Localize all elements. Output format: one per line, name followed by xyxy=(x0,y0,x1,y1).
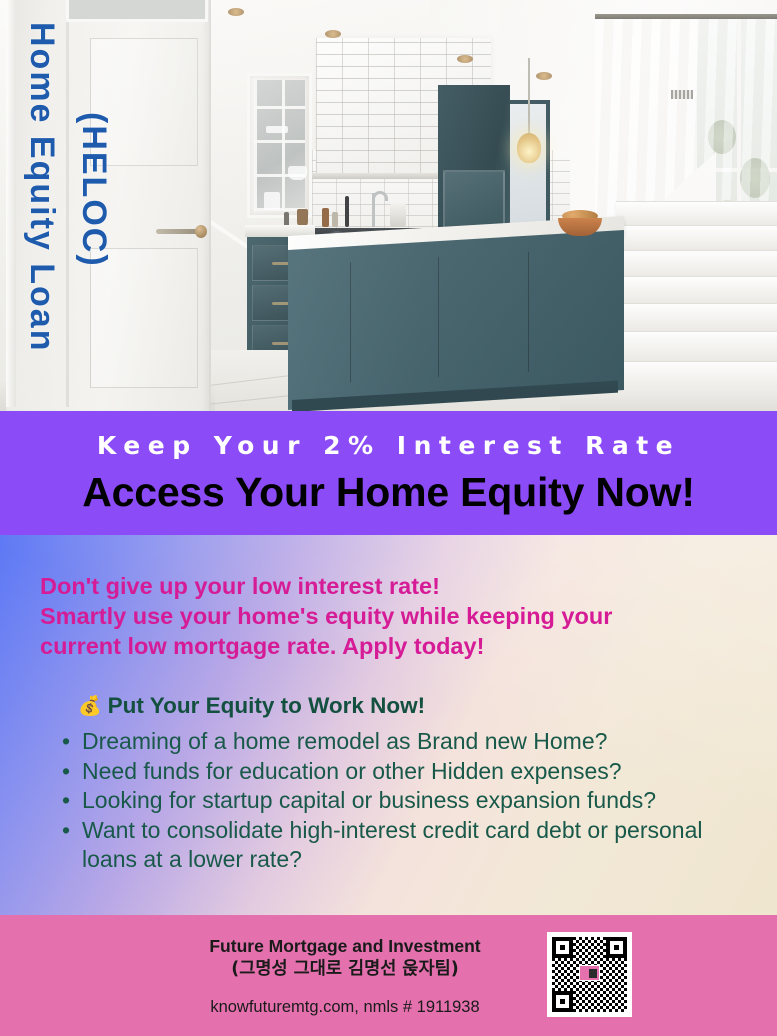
pendant-light-bulb xyxy=(517,133,541,163)
hero-vertical-title: Home Equity Loan xyxy=(22,22,61,352)
hero-vertical-subtitle: (HELOC) xyxy=(74,112,113,268)
money-bag-icon: 💰 xyxy=(78,697,102,716)
cabinet-glass-panes xyxy=(254,80,305,211)
cabinet-dish xyxy=(288,166,307,180)
lede-line: Don't give up your low interest rate! xyxy=(40,571,720,601)
glass-front-upper-cabinet xyxy=(247,73,312,218)
heloc-flyer: Home Equity Loan (HELOC) Keep Your 2% In… xyxy=(0,0,777,1036)
counter-utensil xyxy=(345,196,349,227)
door-panel xyxy=(90,248,198,388)
qr-code-matrix xyxy=(552,937,627,1012)
recessed-ceiling-light xyxy=(457,55,473,63)
island-panel-seam xyxy=(350,262,351,382)
door-rail xyxy=(66,0,69,407)
benefit-list: Dreaming of a home remodel as Brand new … xyxy=(58,727,758,875)
door-knob xyxy=(195,225,207,238)
cta-heading-label: Put Your Equity to Work Now! xyxy=(108,695,426,718)
list-item: Dreaming of a home remodel as Brand new … xyxy=(58,727,758,757)
lede-line: current low mortgage rate. Apply today! xyxy=(40,631,720,661)
cta-heading: 💰 Put Your Equity to Work Now! xyxy=(78,695,425,718)
cabinet-dish xyxy=(266,126,288,133)
qr-code[interactable] xyxy=(547,932,632,1017)
list-item: Looking for startup capital or business … xyxy=(58,786,758,816)
qr-finder-top-right xyxy=(606,937,627,958)
counter-bottle xyxy=(322,208,329,227)
lede-paragraph: Don't give up your low interest rate! Sm… xyxy=(40,571,720,661)
qr-finder-bottom-left xyxy=(552,991,573,1012)
door-transom-window xyxy=(66,0,208,22)
list-item: Want to consolidate high-interest credit… xyxy=(58,816,758,875)
hero-kitchen-photo: Home Equity Loan (HELOC) xyxy=(0,0,777,411)
curtain-rod xyxy=(595,14,777,19)
door-frame xyxy=(6,0,16,407)
body-section: Don't give up your low interest rate! Sm… xyxy=(0,535,777,915)
door-handle xyxy=(156,229,200,234)
island-panel-seam xyxy=(438,257,439,377)
list-item: Need funds for education or other Hidden… xyxy=(58,757,758,787)
cabinet-dish xyxy=(264,192,280,210)
stair-step xyxy=(616,201,777,225)
recessed-ceiling-light xyxy=(325,30,341,38)
pendant-light-cord xyxy=(528,58,530,136)
banner-headline-text: Access Your Home Equity Now! xyxy=(82,472,695,513)
faucet-arc xyxy=(372,191,388,201)
counter-bottle xyxy=(332,212,338,227)
counter-appliance xyxy=(390,203,406,227)
recessed-ceiling-light xyxy=(228,8,244,16)
qr-center-logo xyxy=(579,965,600,981)
hood-vent xyxy=(671,90,693,99)
footer-bar: Future Mortgage and Investment (그명성 그대로 … xyxy=(0,915,777,1036)
headline-banner: Keep Your 2% Interest Rate Access Your H… xyxy=(0,411,777,535)
island-panel-seam xyxy=(528,252,529,372)
lede-line: Smartly use your home's equity while kee… xyxy=(40,601,720,631)
qr-finder-top-left xyxy=(552,937,573,958)
banner-kicker-text: Keep Your 2% Interest Rate xyxy=(97,433,680,458)
recessed-ceiling-light xyxy=(536,72,552,80)
